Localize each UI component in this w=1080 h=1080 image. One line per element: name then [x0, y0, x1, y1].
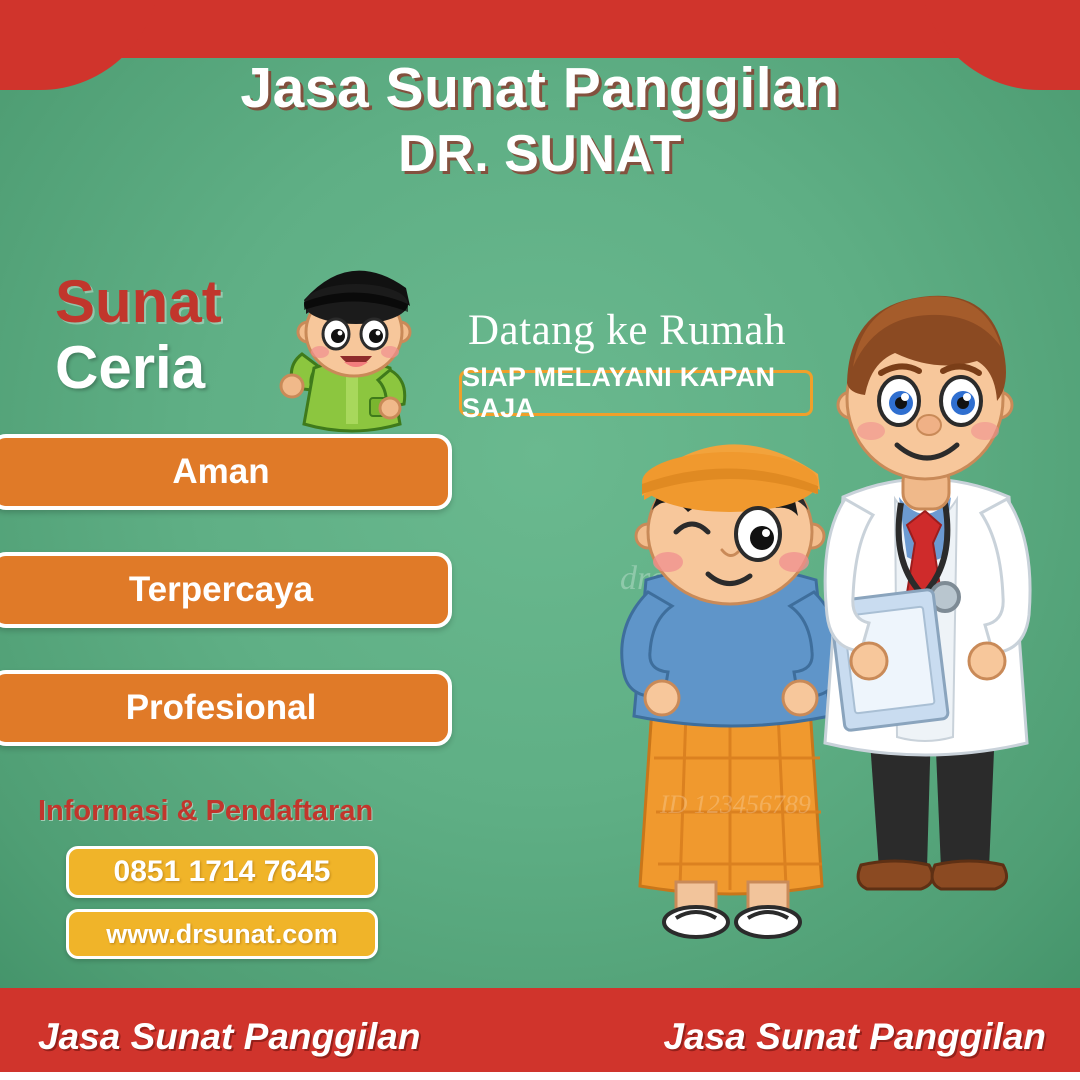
feature-pill-aman[interactable]: Aman [0, 434, 452, 510]
contact-phone-label: 0851 1714 7645 [114, 855, 331, 889]
feature-label: Aman [172, 452, 269, 492]
headline: Jasa Sunat Panggilan DR. SUNAT [0, 58, 1080, 182]
feature-pill-terpercaya[interactable]: Terpercaya [0, 552, 452, 628]
watermark-subtext: ID 123456789 [660, 790, 811, 820]
contact-website-label: www.drsunat.com [106, 919, 338, 950]
boy-with-songkok-illustration [252, 240, 452, 440]
poster-canvas: Jasa Sunat Panggilan DR. SUNAT Sunat Cer… [0, 0, 1080, 1080]
feature-label: Terpercaya [129, 570, 313, 610]
footer-text-right: Jasa Sunat Panggilan [664, 1016, 1046, 1058]
top-red-band [0, 0, 1080, 58]
contact-website-button[interactable]: www.drsunat.com [66, 909, 378, 959]
callout-badge-label: SIAP MELAYANI KAPAN SAJA [462, 362, 810, 424]
headline-line1: Jasa Sunat Panggilan [0, 58, 1080, 120]
contact-title: Informasi & Pendaftaran [38, 795, 373, 828]
bottom-white-strip [0, 1072, 1080, 1080]
feature-pill-profesional[interactable]: Profesional [0, 670, 452, 746]
callout-title: Datang ke Rumah [468, 306, 786, 355]
footer-text-left: Jasa Sunat Panggilan [38, 1016, 420, 1058]
doctor-illustration [795, 275, 1055, 935]
callout-badge: SIAP MELAYANI KAPAN SAJA [459, 370, 813, 416]
headline-line2: DR. SUNAT [0, 126, 1080, 182]
feature-label: Profesional [126, 688, 317, 728]
contact-phone-button[interactable]: 0851 1714 7645 [66, 846, 378, 898]
